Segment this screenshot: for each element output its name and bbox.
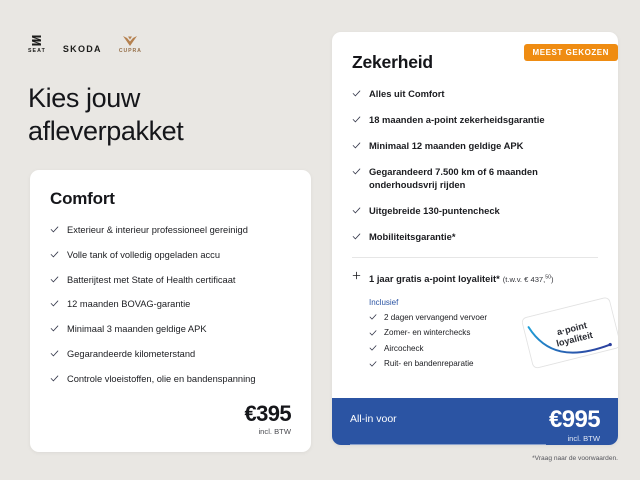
comfort-price: €395 <box>244 403 291 425</box>
check-icon <box>50 275 59 284</box>
zekerheid-feature-list: Alles uit Comfort 18 maanden a-point zek… <box>352 88 598 244</box>
check-icon <box>369 344 377 352</box>
plus-icon <box>352 271 361 280</box>
list-item: Mobiliteitsgarantie* <box>352 231 598 244</box>
feature-label: Uitgebreide 130-puntencheck <box>369 205 500 218</box>
check-icon <box>50 374 59 383</box>
feature-label: Minimaal 12 maanden geldige APK <box>369 140 523 153</box>
check-icon <box>50 324 59 333</box>
included-label-item: Aircocheck <box>384 344 424 353</box>
skoda-wordmark: SKODA <box>63 45 102 54</box>
included-label-item: Ruit- en bandenreparatie <box>384 359 474 368</box>
check-icon <box>369 360 377 368</box>
feature-label: Minimaal 3 maanden geldige APK <box>67 323 207 336</box>
seat-wordmark: SEAT <box>28 49 46 54</box>
list-item: Gegarandeerde kilometerstand <box>50 348 291 361</box>
divider <box>350 444 546 445</box>
delivery-package-page: SEAT SKODA CUPRA Kies jouw afleverpakket… <box>0 0 640 480</box>
list-item: Minimaal 3 maanden geldige APK <box>50 323 291 336</box>
zekerheid-package-card[interactable]: MEEST GEKOZEN Zekerheid Alles uit Comfor… <box>332 32 618 445</box>
check-icon <box>50 225 59 234</box>
list-item: Controle vloeistoffen, olie en bandenspa… <box>50 373 291 386</box>
comfort-title: Comfort <box>50 189 291 209</box>
comfort-feature-list: Exterieur & interieur professioneel gere… <box>50 224 291 386</box>
included-label-item: Zomer- en winterchecks <box>384 328 470 337</box>
cupra-triangle-mark-icon <box>122 35 138 47</box>
loyalty-bonus-row: 1 jaar gratis a-point loyaliteit*(t.w.v.… <box>352 269 598 287</box>
list-item: Batterijtest met State of Health certifi… <box>50 274 291 287</box>
feature-label: Volle tank of volledig opgeladen accu <box>67 249 220 262</box>
check-icon <box>352 89 361 98</box>
list-item: Volle tank of volledig opgeladen accu <box>50 249 291 262</box>
check-icon <box>369 329 377 337</box>
check-icon <box>369 313 377 321</box>
loyalty-bonus-label: 1 jaar gratis a-point loyaliteit* <box>369 273 500 284</box>
check-icon <box>352 167 361 176</box>
brand-logo-bar: SEAT SKODA CUPRA <box>28 34 142 54</box>
allin-label: All-in voor <box>350 408 397 425</box>
check-icon <box>352 206 361 215</box>
cupra-wordmark: CUPRA <box>119 49 142 54</box>
comfort-package-card[interactable]: Comfort Exterieur & interieur profession… <box>30 170 311 452</box>
included-label-item: 2 dagen vervangend vervoer <box>384 313 487 322</box>
feature-label: Gegarandeerde kilometerstand <box>67 348 195 361</box>
feature-label: Mobiliteitsgarantie* <box>369 231 455 244</box>
check-icon <box>50 299 59 308</box>
zekerheid-price-footer[interactable]: All-in voor €995 incl. BTW <box>332 398 618 445</box>
list-item: Minimaal 12 maanden geldige APK <box>352 140 598 153</box>
check-icon <box>50 250 59 259</box>
check-icon <box>352 141 361 150</box>
check-icon <box>352 115 361 124</box>
list-item: Exterieur & interieur professioneel gere… <box>50 224 291 237</box>
list-item: Gegarandeerd 7.500 km of 6 maanden onder… <box>352 166 598 192</box>
check-icon <box>50 349 59 358</box>
cupra-logo: CUPRA <box>119 35 142 54</box>
comfort-price-note: incl. BTW <box>244 428 291 436</box>
seat-s-mark-icon <box>30 34 43 47</box>
feature-label: 12 maanden BOVAG-garantie <box>67 298 190 311</box>
skoda-logo: SKODA <box>63 45 102 54</box>
feature-label: Gegarandeerd 7.500 km of 6 maanden onder… <box>369 166 598 192</box>
list-item: 18 maanden a-point zekerheidsgarantie <box>352 114 598 127</box>
zekerheid-price-note: incl. BTW <box>549 435 600 443</box>
feature-label: Alles uit Comfort <box>369 88 445 101</box>
list-item: Uitgebreide 130-puntencheck <box>352 205 598 218</box>
footnote: *Vraag naar de voorwaarden. <box>532 455 618 462</box>
zekerheid-price: €995 <box>549 408 600 432</box>
feature-label: Exterieur & interieur professioneel gere… <box>67 224 248 237</box>
status-badge: MEEST GEKOZEN <box>524 44 619 61</box>
comfort-price-block: €395 incl. BTW <box>244 403 291 436</box>
divider <box>352 257 598 258</box>
check-icon <box>352 232 361 241</box>
list-item: 12 maanden BOVAG-garantie <box>50 298 291 311</box>
page-title: Kies jouw afleverpakket <box>28 82 288 148</box>
feature-label: Batterijtest met State of Health certifi… <box>67 274 235 287</box>
seat-logo: SEAT <box>28 34 46 54</box>
list-item: Alles uit Comfort <box>352 88 598 101</box>
feature-label: Controle vloeistoffen, olie en bandenspa… <box>67 373 256 386</box>
loyalty-bonus-value: (t.w.v. € 437,50) <box>503 275 554 284</box>
feature-label: 18 maanden a-point zekerheidsgarantie <box>369 114 545 127</box>
loyalty-card-image: a·point loyaliteit <box>512 292 618 372</box>
